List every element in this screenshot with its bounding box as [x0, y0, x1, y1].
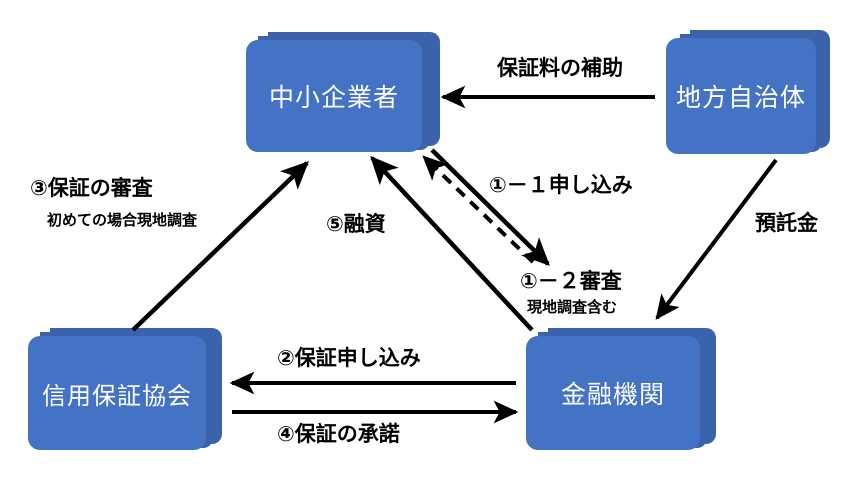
node-bank-label: 金融機関: [526, 336, 700, 450]
edge-label-guarantee-approval: ④保証の承諾: [277, 423, 400, 447]
node-guarantee[interactable]: 信用保証協会: [28, 336, 206, 450]
arrow-deposit: [657, 160, 776, 318]
node-bank[interactable]: 金融機関: [526, 336, 700, 450]
node-sme-label: 中小企業者: [246, 40, 422, 152]
arrow-guarantee-review: [133, 163, 307, 330]
arrow-screening: [424, 157, 533, 262]
edge-label-loan: ⑤融資: [326, 213, 386, 237]
edge-label-screening: ①－２審査: [520, 270, 622, 294]
edge-label-deposit: 預託金: [755, 212, 818, 236]
node-localgov-label: 地方自治体: [666, 38, 816, 154]
edge-sublabel-guarantee-review: 初めての場合現地調査: [47, 212, 197, 229]
node-guarantee-label: 信用保証協会: [28, 336, 206, 450]
edge-label-guarantee-request: ②保証申し込み: [277, 347, 421, 371]
edge-label-guarantee-review: ③保証の審査: [30, 177, 153, 201]
edge-label-subsidy: 保証料の補助: [497, 57, 623, 81]
arrow-application: [432, 150, 548, 264]
node-localgov[interactable]: 地方自治体: [666, 38, 816, 154]
node-sme[interactable]: 中小企業者: [246, 40, 422, 152]
edge-label-application: ①－１申し込み: [489, 174, 633, 198]
diagram-canvas: 中小企業者 地方自治体 信用保証協会 金融機関 保証料の補助 預託金 ①－１申し…: [0, 0, 846, 488]
edge-sublabel-screening: 現地調査含む: [527, 299, 617, 316]
